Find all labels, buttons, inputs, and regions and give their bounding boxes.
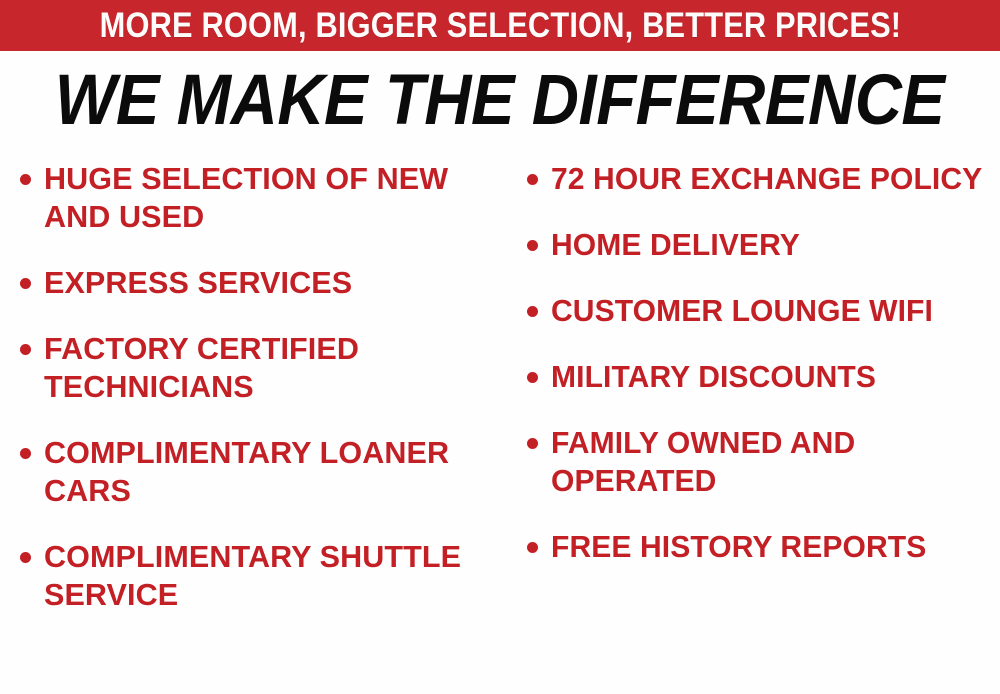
- benefit-label: 72 HOUR EXCHANGE POLICY: [551, 160, 991, 198]
- advertisement-banner: MORE ROOM, BIGGER SELECTION, BETTER PRIC…: [0, 0, 1000, 694]
- headline-text: WE MAKE THE DIFFERENCE: [55, 64, 945, 138]
- headline: WE MAKE THE DIFFERENCE: [0, 64, 1000, 138]
- benefit-item: FREE HISTORY REPORTS: [527, 528, 998, 566]
- bullet-dot-icon: [527, 542, 538, 553]
- benefit-label: EXPRESS SERVICES: [44, 264, 494, 302]
- benefit-item: HUGE SELECTION OF NEW AND USED: [20, 160, 501, 236]
- benefits-columns: HUGE SELECTION OF NEW AND USED EXPRESS S…: [0, 160, 1000, 694]
- benefit-item: FACTORY CERTIFIED TECHNICIANS: [20, 330, 501, 406]
- benefit-item: FAMILY OWNED AND OPERATED: [527, 424, 998, 500]
- bullet-dot-icon: [527, 306, 538, 317]
- benefit-item: HOME DELIVERY: [527, 226, 998, 264]
- benefit-label: COMPLIMENTARY LOANER CARS: [44, 434, 494, 510]
- promo-banner-text: MORE ROOM, BIGGER SELECTION, BETTER PRIC…: [99, 8, 901, 43]
- benefit-item: MILITARY DISCOUNTS: [527, 358, 998, 396]
- bullet-dot-icon: [527, 174, 538, 185]
- bullet-dot-icon: [527, 372, 538, 383]
- benefit-label: FAMILY OWNED AND OPERATED: [551, 424, 991, 500]
- benefit-label: COMPLIMENTARY SHUTTLE SERVICE: [44, 538, 494, 614]
- bullet-dot-icon: [20, 552, 31, 563]
- benefit-item: EXPRESS SERVICES: [20, 264, 501, 302]
- benefit-label: MILITARY DISCOUNTS: [551, 358, 991, 396]
- benefit-item: COMPLIMENTARY SHUTTLE SERVICE: [20, 538, 501, 614]
- benefit-label: CUSTOMER LOUNGE WIFI: [551, 292, 991, 330]
- benefit-label: HUGE SELECTION OF NEW AND USED: [44, 160, 494, 236]
- benefit-label: HOME DELIVERY: [551, 226, 991, 264]
- benefit-item: CUSTOMER LOUNGE WIFI: [527, 292, 998, 330]
- benefits-column-left: HUGE SELECTION OF NEW AND USED EXPRESS S…: [0, 160, 505, 642]
- benefit-item: COMPLIMENTARY LOANER CARS: [20, 434, 501, 510]
- bullet-dot-icon: [527, 438, 538, 449]
- bullet-dot-icon: [527, 240, 538, 251]
- bullet-dot-icon: [20, 448, 31, 459]
- benefit-label: FACTORY CERTIFIED TECHNICIANS: [44, 330, 494, 406]
- benefits-column-right: 72 HOUR EXCHANGE POLICY HOME DELIVERY CU…: [505, 160, 1000, 594]
- bullet-dot-icon: [20, 278, 31, 289]
- benefit-label: FREE HISTORY REPORTS: [551, 528, 991, 566]
- promo-banner: MORE ROOM, BIGGER SELECTION, BETTER PRIC…: [0, 0, 1000, 51]
- bullet-dot-icon: [20, 174, 31, 185]
- benefit-item: 72 HOUR EXCHANGE POLICY: [527, 160, 998, 198]
- bullet-dot-icon: [20, 344, 31, 355]
